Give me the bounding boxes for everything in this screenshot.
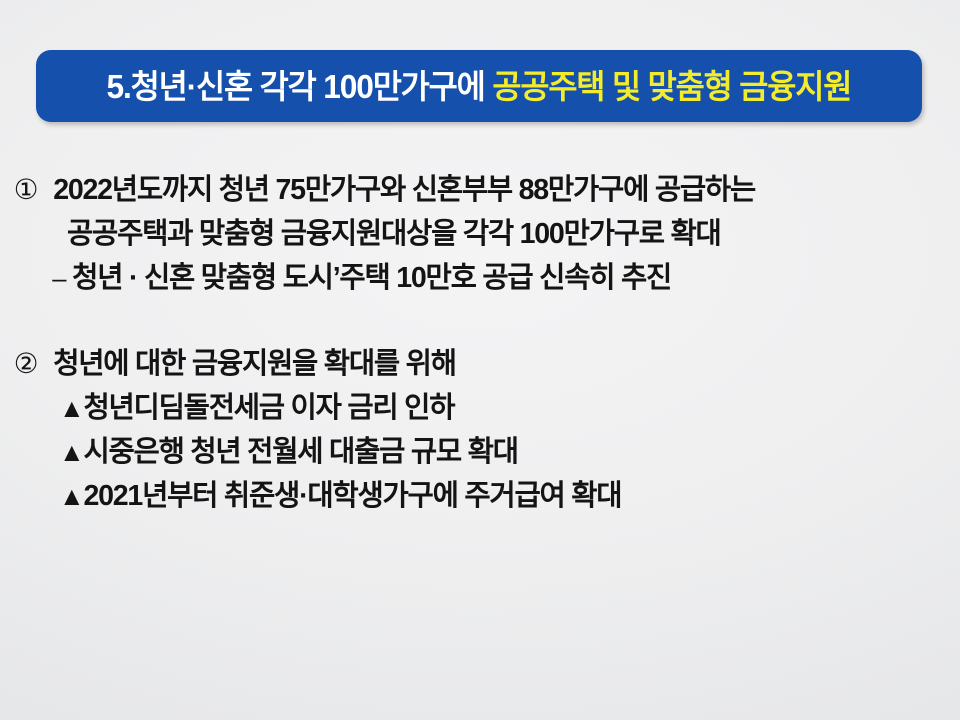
bullet-item-2: ②청년에 대한 금융지원을 확대를 위해 ▲청년디딤돌전세금 이자 금리 인하 … bbox=[0, 342, 960, 518]
triangle-marker-icon-3: ▲ bbox=[59, 474, 83, 518]
bullet-item-2-line-1-text: 청년에 대한 금융지원을 확대를 위해 bbox=[53, 348, 456, 380]
triangle-marker-icon-2: ▲ bbox=[59, 430, 83, 474]
bullet-item-1-sub-1-text: 청년 · 신혼 맞춤형 도시’주택 10만호 공급 신속히 추진 bbox=[72, 262, 671, 294]
bullet-item-2-sub-1: ▲청년디딤돌전세금 이자 금리 인하 bbox=[0, 386, 946, 430]
bullet-item-1-sub-1: – 청년 · 신혼 맞춤형 도시’주택 10만호 공급 신속히 추진 bbox=[0, 256, 946, 300]
bullet-item-1: ①2022년도까지 청년 75만가구와 신혼부부 88만가구에 공급하는 공공주… bbox=[0, 168, 960, 300]
slide-title-yellow-part: 공공주택 및 맞춤형 금융지원 bbox=[492, 68, 851, 105]
bullet-item-2-line-1: ②청년에 대한 금융지원을 확대를 위해 bbox=[0, 342, 946, 386]
bullet-item-2-sub-2: ▲시중은행 청년 전월세 대출금 규모 확대 bbox=[0, 430, 946, 474]
circled-number-2-icon: ② bbox=[0, 342, 53, 386]
bullet-item-2-sub-2-text: 시중은행 청년 전월세 대출금 규모 확대 bbox=[83, 436, 517, 468]
bullet-item-1-line-2: 공공주택과 맞춤형 금융지원대상을 각각 100만가구로 확대 bbox=[0, 212, 946, 256]
bullet-item-1-line-1: ①2022년도까지 청년 75만가구와 신혼부부 88만가구에 공급하는 bbox=[0, 168, 946, 212]
slide-body: ①2022년도까지 청년 75만가구와 신혼부부 88만가구에 공급하는 공공주… bbox=[0, 168, 960, 518]
slide-canvas: 5.청년·신혼 각각 100만가구에 공공주택 및 맞춤형 금융지원 ①2022… bbox=[0, 0, 960, 720]
slide-title-text: 5.청년·신혼 각각 100만가구에 공공주택 및 맞춤형 금융지원 bbox=[107, 70, 852, 103]
slide-title-white-part: 5.청년·신혼 각각 100만가구에 bbox=[107, 68, 485, 105]
dash-marker-icon: – bbox=[52, 256, 65, 300]
bullet-item-1-line-2-text: 공공주택과 맞춤형 금융지원대상을 각각 100만가구로 확대 bbox=[67, 218, 721, 250]
bullet-item-2-sub-3-text: 2021년부터 취준생·대학생가구에 주거급여 확대 bbox=[83, 480, 621, 512]
triangle-marker-icon-1: ▲ bbox=[59, 386, 83, 430]
bullet-item-1-line-1-text: 2022년도까지 청년 75만가구와 신혼부부 88만가구에 공급하는 bbox=[53, 174, 755, 206]
bullet-item-2-sub-1-text: 청년디딤돌전세금 이자 금리 인하 bbox=[83, 392, 454, 424]
slide-title-banner: 5.청년·신혼 각각 100만가구에 공공주택 및 맞춤형 금융지원 bbox=[36, 50, 922, 122]
bullet-item-2-sub-3: ▲2021년부터 취준생·대학생가구에 주거급여 확대 bbox=[0, 474, 946, 518]
section-spacer bbox=[0, 300, 960, 342]
circled-number-1-icon: ① bbox=[0, 168, 53, 212]
